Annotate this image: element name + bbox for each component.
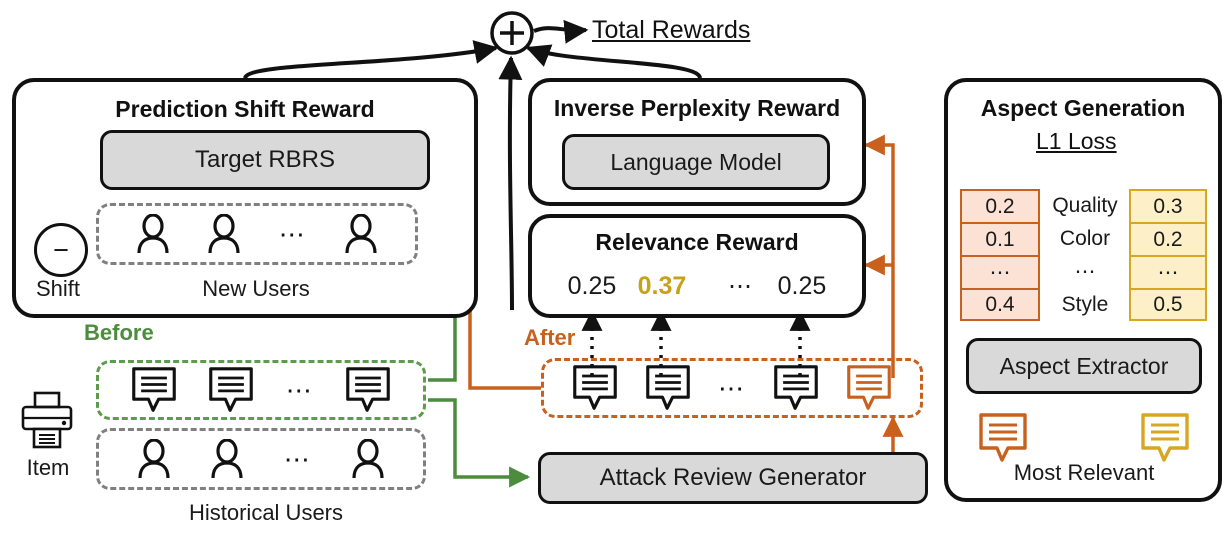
wire-before-to-generator: [428, 400, 528, 477]
aspect-right-value: 0.2: [1129, 222, 1207, 255]
review-bubble-icon-orange: [846, 364, 892, 412]
user-icon: [344, 214, 378, 254]
user-icon: [351, 439, 385, 479]
panel-title-inverse-perplexity: Inverse Perplexity Reward: [532, 95, 862, 122]
after-reviews-group: ⋯: [541, 358, 923, 418]
panel-relevance-reward: Relevance Reward: [528, 214, 866, 318]
aspect-extractor-box[interactable]: Aspect Extractor: [966, 338, 1202, 394]
aspect-right-value: 0.5: [1129, 288, 1207, 321]
diagram-canvas: Total Rewards Prediction Shift Reward Ta…: [0, 0, 1232, 550]
user-icon: [210, 439, 244, 479]
relevance-score-2: 0.37: [622, 272, 702, 301]
user-icon: [207, 214, 241, 254]
historical-users-caption: Historical Users: [166, 500, 366, 526]
shift-node: −: [34, 223, 88, 277]
review-bubble-icon: [572, 364, 618, 412]
aspect-values-right-column: 0.3 0.2 ⋯ 0.5: [1129, 189, 1207, 321]
wire-shift-to-sum: [245, 48, 496, 78]
aspect-left-value: 0.4: [960, 288, 1040, 321]
wire-relevance-to-sum: [510, 58, 512, 310]
wire-after-to-perplexity: [866, 145, 893, 378]
review-bubble-icon: [645, 364, 691, 412]
review-bubble-icon: [978, 412, 1028, 464]
shift-caption: Shift: [18, 276, 98, 302]
review-bubble-icon: [345, 366, 391, 414]
printer-icon: [18, 390, 76, 452]
panel-title-prediction-shift: Prediction Shift Reward: [16, 96, 474, 123]
most-relevant-caption: Most Relevant: [994, 460, 1174, 486]
aspect-right-value: 0.3: [1129, 189, 1207, 222]
user-icon: [137, 439, 171, 479]
ellipsis-icon: ⋯: [284, 444, 312, 475]
aspect-names-column: Quality Color ⋯ Style: [1042, 189, 1128, 321]
ellipsis-icon: ⋯: [286, 375, 314, 406]
stage-label-before: Before: [84, 320, 154, 346]
panel-title-relevance: Relevance Reward: [532, 229, 862, 256]
stage-label-after: After: [524, 325, 575, 351]
aspect-left-value: 0.2: [960, 189, 1040, 222]
target-rbrs-box[interactable]: Target RBRS: [100, 130, 430, 190]
ellipsis-icon: ⋯: [718, 373, 746, 404]
aspect-left-value: 0.1: [960, 222, 1040, 255]
aspect-left-value: ⋯: [960, 255, 1040, 288]
aspect-name: Style: [1042, 288, 1128, 321]
aspect-name: Color: [1042, 222, 1128, 255]
total-rewards-label: Total Rewards: [592, 16, 750, 45]
language-model-box[interactable]: Language Model: [562, 134, 830, 190]
aspect-right-value: ⋯: [1129, 255, 1207, 288]
sum-node: [492, 13, 532, 53]
attack-review-generator-box[interactable]: Attack Review Generator: [538, 452, 928, 504]
l1-loss-label: L1 Loss: [1036, 128, 1117, 155]
aspect-name: ⋯: [1042, 255, 1128, 288]
relevance-score-4: 0.25: [762, 272, 842, 301]
relevance-score-1: 0.25: [552, 272, 632, 301]
panel-title-aspect-generation: Aspect Generation: [948, 95, 1218, 122]
ellipsis-icon: ⋯: [279, 219, 307, 250]
aspect-name: Quality: [1042, 189, 1128, 222]
review-bubble-icon: [131, 366, 177, 414]
review-bubble-icon: [773, 364, 819, 412]
new-users-caption: New Users: [176, 276, 336, 302]
review-bubble-icon: [1140, 412, 1190, 464]
aspect-values-left-column: 0.2 0.1 ⋯ 0.4: [960, 189, 1040, 321]
review-bubble-icon: [208, 366, 254, 414]
item-label: Item: [6, 455, 90, 481]
new-users-group: ⋯: [96, 203, 418, 265]
user-icon: [136, 214, 170, 254]
wire-perplexity-to-sum: [528, 48, 700, 78]
wire-sum-to-total: [534, 28, 586, 31]
historical-users-group: ⋯: [96, 428, 426, 490]
before-reviews-group: ⋯: [96, 360, 426, 420]
